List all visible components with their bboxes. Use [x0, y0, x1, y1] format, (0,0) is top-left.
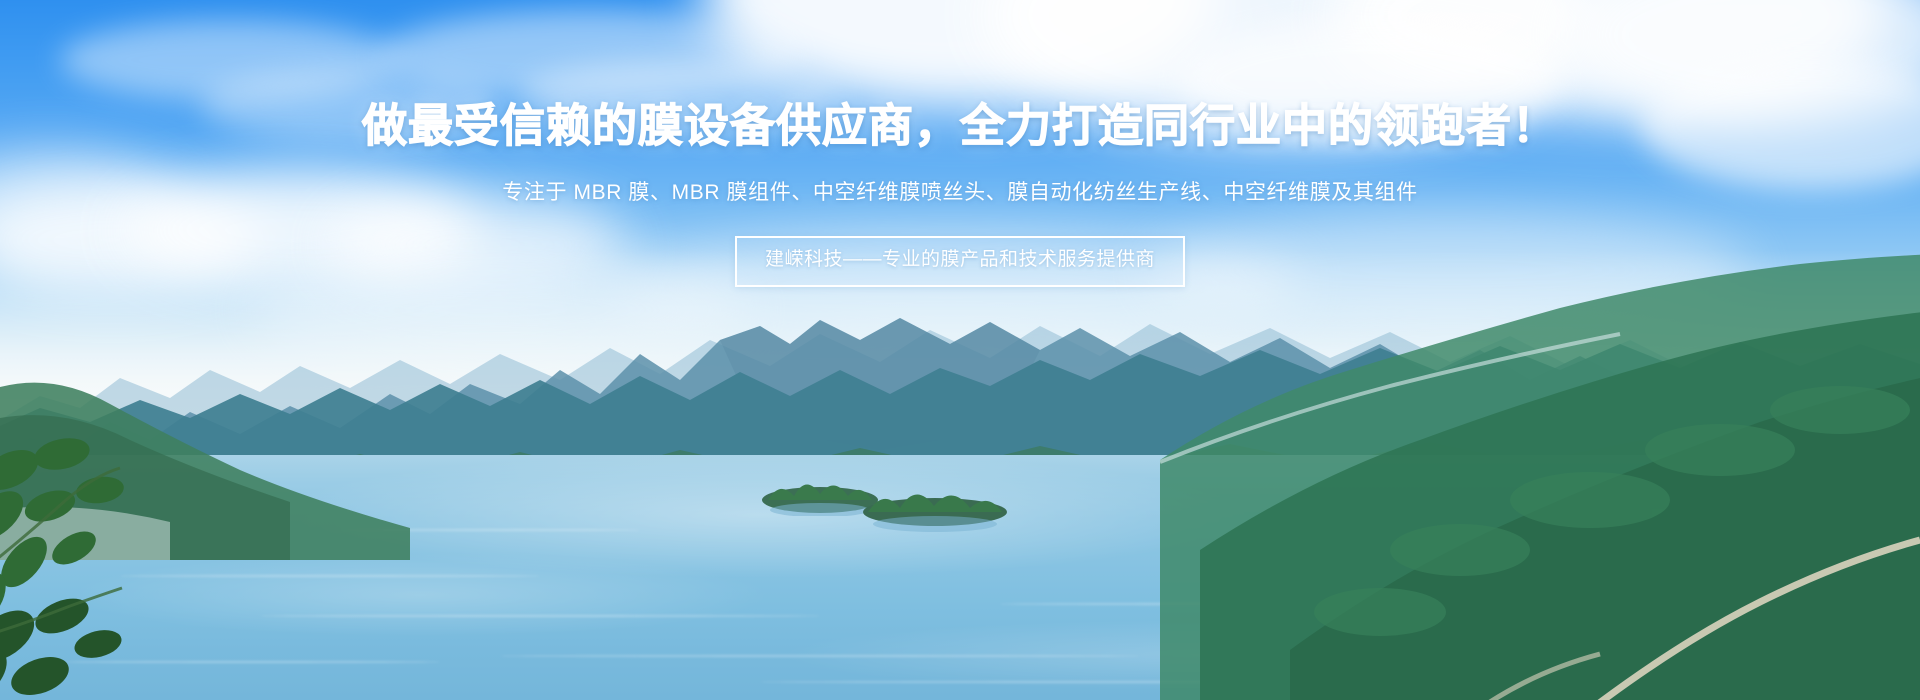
banner-headline: 做最受信赖的膜设备供应商，全力打造同行业中的领跑者！ [362, 100, 1558, 152]
banner-subheadline: 专注于 MBR 膜、MBR 膜组件、中空纤维膜喷丝头、膜自动化纺丝生产线、中空纤… [502, 178, 1417, 207]
hero-banner: 做最受信赖的膜设备供应商，全力打造同行业中的领跑者！ 专注于 MBR 膜、MBR… [0, 0, 1920, 700]
banner-text-overlay: 做最受信赖的膜设备供应商，全力打造同行业中的领跑者！ 专注于 MBR 膜、MBR… [0, 0, 1920, 700]
banner-tagline-box: 建嵘科技——专业的膜产品和技术服务提供商 [735, 236, 1185, 287]
